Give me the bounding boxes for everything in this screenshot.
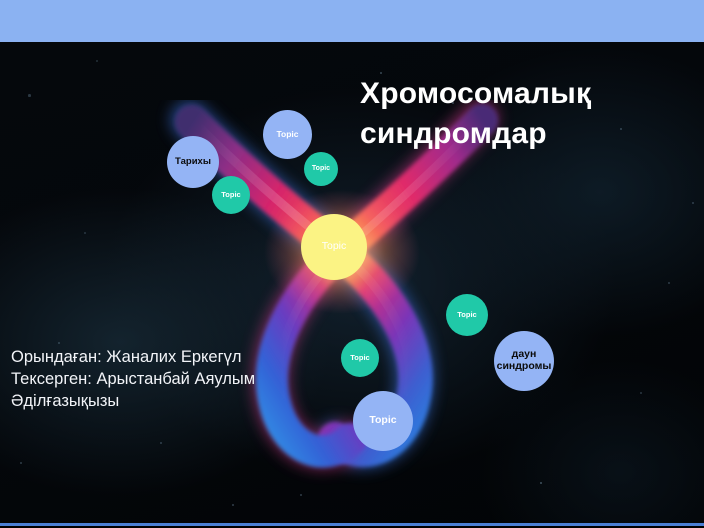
background-speck bbox=[96, 60, 98, 62]
topic-bubble-label: Topic bbox=[343, 354, 377, 362]
topic-bubble-label: Тарихы bbox=[169, 157, 217, 168]
background-speck bbox=[668, 282, 670, 284]
topic-bubble-teal-2[interactable]: Topic bbox=[304, 152, 338, 186]
topic-bubble-daun-sindromy[interactable]: даун синдромы bbox=[494, 331, 554, 391]
topic-bubble-bottom[interactable]: Topic bbox=[353, 391, 413, 451]
background-speck bbox=[640, 392, 642, 394]
background-speck bbox=[692, 202, 694, 204]
topic-bubble-label: Topic bbox=[214, 191, 248, 199]
background-speck bbox=[300, 494, 302, 496]
author-block: Орындаған: Жаналих Еркегүл Тексерген: Ар… bbox=[11, 347, 331, 412]
topic-bubble-label: Topic bbox=[306, 165, 336, 173]
topic-bubble-teal-1[interactable]: Topic bbox=[212, 176, 250, 214]
background-speck bbox=[20, 462, 22, 464]
author-line-checked-by: Тексерген: Арыстанбай Аяулым bbox=[11, 369, 331, 391]
topic-bubble-tarihy[interactable]: Тарихы bbox=[167, 136, 219, 188]
slide-title: Хромосомалық синдромдар bbox=[360, 74, 670, 153]
bottom-rule bbox=[0, 523, 704, 526]
presentation-slide: Хромосомалық синдромдар Орындаған: Жанал… bbox=[0, 0, 704, 528]
topic-bubble-label: Topic bbox=[448, 311, 486, 319]
topic-bubble-topic-top[interactable]: Topic bbox=[263, 110, 312, 159]
author-line-prepared-by: Орындаған: Жаналих Еркегүл bbox=[11, 347, 331, 369]
topic-bubble-label: Topic bbox=[303, 241, 365, 253]
topic-bubble-teal-3[interactable]: Topic bbox=[446, 294, 488, 336]
title-line-2: синдромдар bbox=[360, 114, 670, 154]
topic-bubble-label: Topic bbox=[265, 130, 310, 140]
background-speck bbox=[58, 342, 60, 344]
topic-bubble-teal-4[interactable]: Topic bbox=[341, 339, 379, 377]
author-line-checked-by-cont: Әділғазықызы bbox=[11, 391, 331, 413]
topic-bubble-center[interactable]: Topic bbox=[301, 214, 367, 280]
background-speck bbox=[232, 504, 234, 506]
title-line-1: Хромосомалық bbox=[360, 74, 670, 114]
topic-bubble-label: Topic bbox=[355, 415, 411, 427]
background-speck bbox=[84, 232, 86, 234]
topic-bubble-label: даун синдромы bbox=[496, 349, 552, 373]
background-speck bbox=[28, 94, 31, 97]
top-banner bbox=[0, 0, 704, 42]
